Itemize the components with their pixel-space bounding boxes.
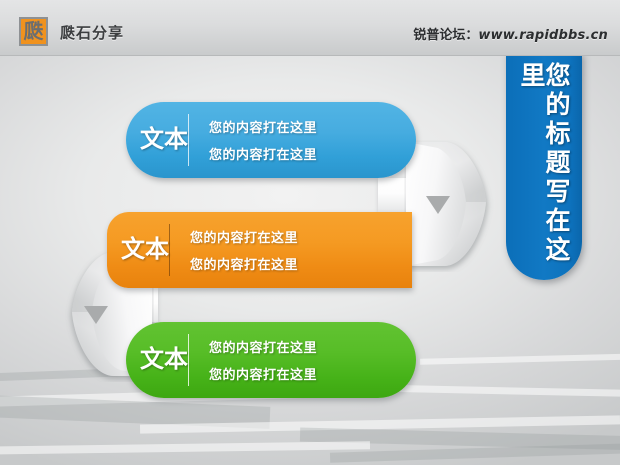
row-blue-divider — [188, 114, 189, 166]
watermark: 锐普论坛：www.rapidbbs.cn — [413, 24, 608, 43]
top-bar: 瓞 瓞石分享 锐普论坛：www.rapidbbs.cn — [0, 0, 620, 56]
content-row-blue[interactable]: 文本 您的内容打在这里 您的内容打在这里 — [126, 102, 416, 178]
logo-box: 瓞 — [19, 17, 48, 46]
bg-streak-4 — [300, 428, 620, 451]
vertical-title-text: 您的标题写在这里 — [519, 62, 569, 280]
connector-right-shape — [404, 140, 500, 272]
watermark-url: www.rapidbbs.cn — [478, 28, 608, 43]
row-blue-line-1: 您的内容打在这里 — [209, 117, 317, 136]
watermark-prefix: 锐普论坛： — [413, 28, 478, 43]
vertical-title-banner[interactable]: 您的标题写在这里 — [506, 52, 582, 280]
row-green-body: 您的内容打在这里 您的内容打在这里 — [209, 337, 317, 383]
bg-streak-9 — [330, 443, 620, 462]
row-orange-label: 文本 — [107, 237, 169, 262]
slide-canvas: 瓞 瓞石分享 锐普论坛：www.rapidbbs.cn 您的标题写在这里 — [0, 0, 620, 465]
content-row-green[interactable]: 文本 您的内容打在这里 您的内容打在这里 — [126, 322, 416, 398]
row-green-label: 文本 — [126, 347, 188, 372]
bg-streak-8 — [420, 353, 620, 365]
bg-streak-5 — [0, 441, 370, 455]
bg-streak-3 — [140, 415, 620, 433]
row-blue-line-2: 您的内容打在这里 — [209, 144, 317, 163]
row-blue-label: 文本 — [126, 127, 188, 152]
row-green-line-1: 您的内容打在这里 — [209, 337, 317, 356]
row-orange-line-2: 您的内容打在这里 — [190, 254, 298, 273]
row-orange-body: 您的内容打在这里 您的内容打在这里 — [190, 227, 298, 273]
logo-label: 瓞石分享 — [60, 22, 124, 43]
connector-right[interactable] — [404, 140, 500, 272]
row-blue-body: 您的内容打在这里 您的内容打在这里 — [209, 117, 317, 163]
content-row-orange[interactable]: 文本 您的内容打在这里 您的内容打在这里 — [107, 212, 412, 288]
row-orange-line-1: 您的内容打在这里 — [190, 227, 298, 246]
logo-glyph: 瓞 — [21, 19, 46, 44]
row-green-divider — [188, 334, 189, 386]
row-green-line-2: 您的内容打在这里 — [209, 364, 317, 383]
bg-streak-2 — [0, 393, 270, 429]
row-orange-divider — [169, 224, 170, 276]
